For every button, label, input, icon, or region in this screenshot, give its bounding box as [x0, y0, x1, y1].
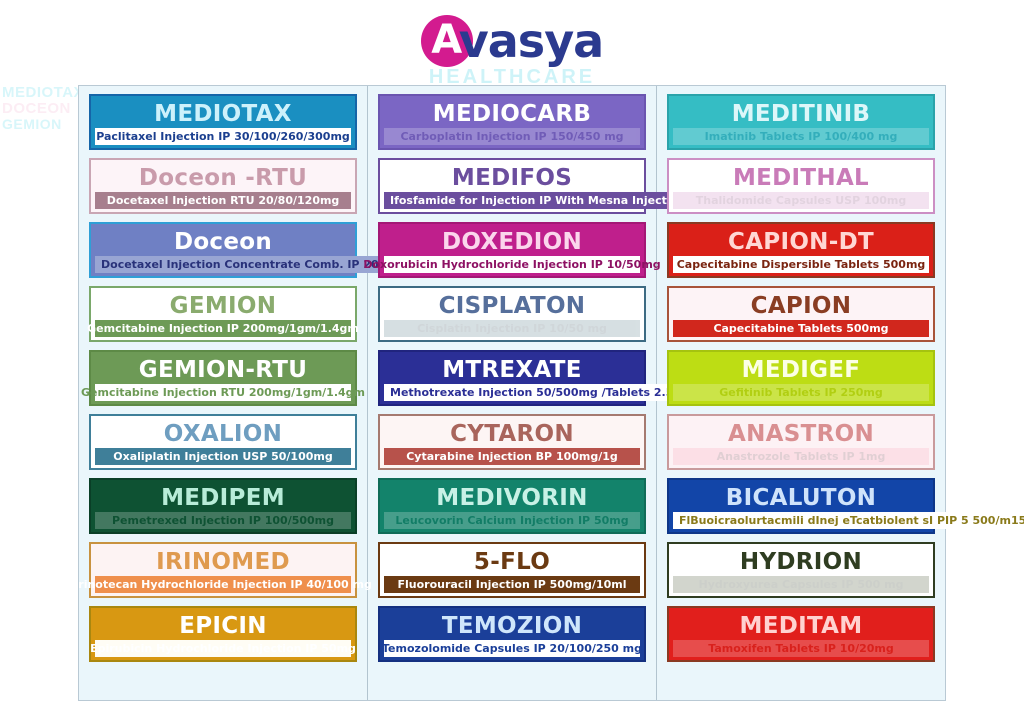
product-brand-name: GEMION-RTU — [91, 352, 355, 388]
product-card[interactable]: ANASTRONAnastrozole Tablets IP 1mg — [667, 414, 935, 470]
column-3: MEDITINIBImatinib Tablets IP 100/400 mgM… — [657, 86, 945, 700]
product-card[interactable]: MTREXATEMethotrexate Injection 50/500mg … — [378, 350, 646, 406]
logo-letter-a: A — [431, 20, 462, 60]
product-brand-name: MEDIOTAX — [91, 96, 355, 132]
product-brand-name: CAPION — [669, 288, 933, 324]
product-card[interactable]: MEDIPEMPemetrexed Injection IP 100/500mg — [89, 478, 357, 534]
product-description: Methotrexate Injection 50/500mg /Tablets… — [384, 384, 704, 401]
product-description: Leucovorin Calcium Injection IP 50mg — [384, 512, 640, 529]
product-card[interactable]: CAPIONCapecitabine Tablets 500mg — [667, 286, 935, 342]
product-description: Paclitaxel Injection IP 30/100/260/300mg — [95, 128, 351, 145]
column-2: MEDIOCARBCarboplatin Injection IP 150/45… — [368, 86, 657, 700]
product-card[interactable]: MEDITAMTamoxifen Tablets IP 10/20mg — [667, 606, 935, 662]
product-brand-name: BICALUTON — [669, 480, 933, 516]
product-description: Thalidomide Capsules USP 100mg — [673, 192, 929, 209]
product-card[interactable]: 5-FLOFluorouracil Injection IP 500mg/10m… — [378, 542, 646, 598]
product-description: Ifosfamide for Injection IP With Mesna I… — [384, 192, 704, 209]
product-description: Tamoxifen Tablets IP 10/20mg — [673, 640, 929, 657]
product-card[interactable]: GEMIONGemcitabine Injection IP 200mg/1gm… — [89, 286, 357, 342]
ghost-text-1: DOCEON — [2, 100, 71, 117]
product-card[interactable]: GEMION-RTUGemcitabine Injection RTU 200m… — [89, 350, 357, 406]
product-card[interactable]: MEDIGEFGefitinib Tablets IP 250mg — [667, 350, 935, 406]
column-1: MEDIOTAXPaclitaxel Injection IP 30/100/2… — [79, 86, 368, 700]
product-description: Pemetrexed Injection IP 100/500mg — [95, 512, 351, 529]
product-brand-name: MEDIVORIN — [380, 480, 644, 516]
product-brand-name: HYDRION — [669, 544, 933, 580]
product-brand-name: CYTARON — [380, 416, 644, 452]
product-description: FlBuoicraolurtacmili dInej eTcatbiolent … — [673, 512, 993, 529]
product-card[interactable]: BICALUTONFlBuoicraolurtacmili dInej eTca… — [667, 478, 935, 534]
product-card[interactable]: MEDIOTAXPaclitaxel Injection IP 30/100/2… — [89, 94, 357, 150]
product-card[interactable]: CYTARONCytarabine Injection BP 100mg/1g — [378, 414, 646, 470]
product-brand-name: MEDIOCARB — [380, 96, 644, 132]
product-card[interactable]: MEDIFOSIfosfamide for Injection IP With … — [378, 158, 646, 214]
product-description: Cisplatin Injection IP 10/50 mg — [384, 320, 640, 337]
product-description: Anastrozole Tablets IP 1mg — [673, 448, 929, 465]
product-brand-name: CISPLATON — [380, 288, 644, 324]
product-description: Gemcitabine Injection IP 200mg/1gm/1.4gm — [95, 320, 351, 337]
product-description: Carboplatin Injection IP 150/450 mg — [384, 128, 640, 145]
product-card[interactable]: MEDITINIBImatinib Tablets IP 100/400 mg — [667, 94, 935, 150]
product-description: Gefitinib Tablets IP 250mg — [673, 384, 929, 401]
product-card[interactable]: CISPLATONCisplatin Injection IP 10/50 mg — [378, 286, 646, 342]
product-brand-name: MEDIFOS — [380, 160, 644, 196]
product-card[interactable]: DOXEDIONDoxorubicin Hydrochloride Inject… — [378, 222, 646, 278]
product-description: Fluorouracil Injection IP 500mg/10ml — [384, 576, 640, 593]
product-brand-name: 5-FLO — [380, 544, 644, 580]
product-description: Hydroxyurea Capsules IP 500 mg — [673, 576, 929, 593]
product-card[interactable]: DoceonDocetaxel Injection Concentrate Co… — [89, 222, 357, 278]
product-card[interactable]: TEMOZIONTemozolomide Capsules IP 20/100/… — [378, 606, 646, 662]
product-columns: MEDIOTAXPaclitaxel Injection IP 30/100/2… — [79, 86, 945, 700]
product-brand-name: ANASTRON — [669, 416, 933, 452]
product-description: Capecitabine Tablets 500mg — [673, 320, 929, 337]
product-card[interactable]: IRINOMEDIrinotecan Hydrochloride Injecti… — [89, 542, 357, 598]
product-brand-name: GEMION — [91, 288, 355, 324]
product-brand-name: OXALION — [91, 416, 355, 452]
product-description: Gemcitabine Injection RTU 200mg/1gm/1.4g… — [95, 384, 351, 401]
product-brand-name: MEDIPEM — [91, 480, 355, 516]
product-brand-name: Doceon — [91, 224, 355, 260]
product-description: Irinotecan Hydrochloride Injection IP 40… — [95, 576, 351, 593]
product-card[interactable]: MEDIOCARBCarboplatin Injection IP 150/45… — [378, 94, 646, 150]
product-card[interactable]: CAPION-DTCapecitabine Dispersible Tablet… — [667, 222, 935, 278]
product-card[interactable]: OXALIONOxaliplatin Injection USP 50/100m… — [89, 414, 357, 470]
product-description: Docetaxel Injection RTU 20/80/120mg — [95, 192, 351, 209]
product-description: Epirubicin Hydrochloride Injection IP 50… — [95, 640, 351, 657]
product-description: Imatinib Tablets IP 100/400 mg — [673, 128, 929, 145]
product-brand-name: MEDIGEF — [669, 352, 933, 388]
product-description: Capecitabine Dispersible Tablets 500mg — [673, 256, 929, 273]
ghost-text-2: GEMION — [2, 116, 62, 132]
product-brand-name: TEMOZION — [380, 608, 644, 644]
product-brand-name: MEDITHAL — [669, 160, 933, 196]
product-brand-name: CAPION-DT — [669, 224, 933, 260]
product-card[interactable]: EPICINEpirubicin Hydrochloride Injection… — [89, 606, 357, 662]
product-brand-name: DOXEDION — [380, 224, 644, 260]
product-card[interactable]: MEDITHALThalidomide Capsules USP 100mg — [667, 158, 935, 214]
brand-logo: A vasya — [0, 14, 1024, 68]
logo-wordmark: vasya — [459, 14, 603, 68]
product-brand-name: MTREXATE — [380, 352, 644, 388]
product-brand-name: Doceon -RTU — [91, 160, 355, 196]
product-card[interactable]: Doceon -RTUDocetaxel Injection RTU 20/80… — [89, 158, 357, 214]
product-brand-name: MEDITAM — [669, 608, 933, 644]
product-brand-name: IRINOMED — [91, 544, 355, 580]
product-description: Doxorubicin Hydrochloride Injection IP 1… — [384, 256, 640, 273]
product-card[interactable]: MEDIVORINLeucovorin Calcium Injection IP… — [378, 478, 646, 534]
product-brand-name: EPICIN — [91, 608, 355, 644]
product-description: Oxaliplatin Injection USP 50/100mg — [95, 448, 351, 465]
product-description: Cytarabine Injection BP 100mg/1g — [384, 448, 640, 465]
product-brand-name: MEDITINIB — [669, 96, 933, 132]
product-description: Temozolomide Capsules IP 20/100/250 mg — [384, 640, 640, 657]
product-card[interactable]: HYDRIONHydroxyurea Capsules IP 500 mg — [667, 542, 935, 598]
product-catalog-panel: MEDIOTAXPaclitaxel Injection IP 30/100/2… — [78, 85, 946, 701]
